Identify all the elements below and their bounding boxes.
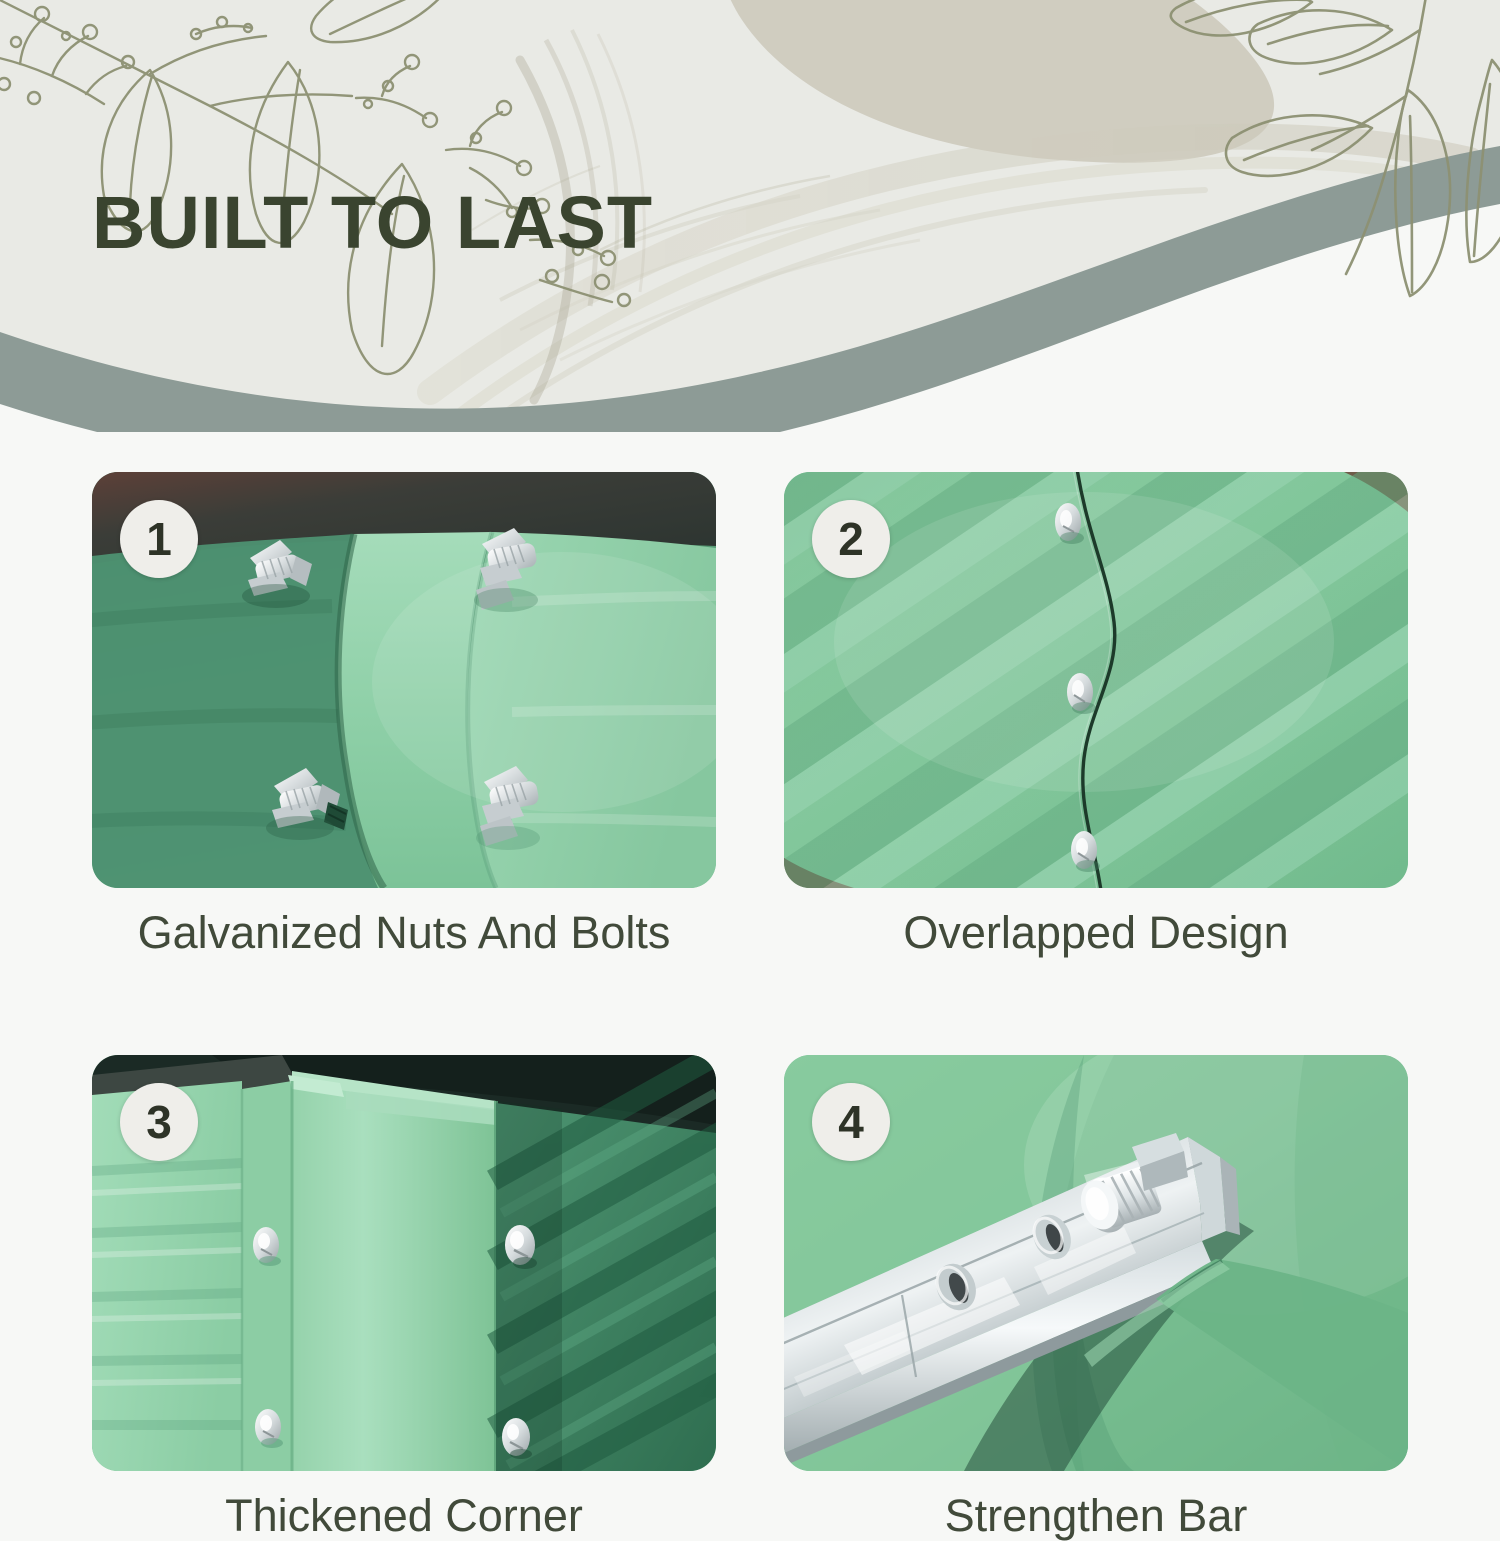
feature-badge-4: 4 — [812, 1083, 890, 1161]
feature-badge-3: 3 — [120, 1083, 198, 1161]
feature-caption-2: Overlapped Design — [784, 908, 1408, 958]
feature-grid: 1 Galvanized Nuts And Bolts — [92, 472, 1408, 1540]
feature-card-2: 2 Overlapped Design — [784, 472, 1408, 958]
header-banner: BUILT TO LAST — [0, 0, 1500, 432]
thickened-corner-photo: 3 — [92, 1055, 716, 1471]
feature-caption-3: Thickened Corner — [92, 1491, 716, 1541]
feature-card-1: 1 Galvanized Nuts And Bolts — [92, 472, 716, 958]
feature-badge-2: 2 — [812, 500, 890, 578]
page-title: BUILT TO LAST — [92, 186, 653, 260]
overlapped-design-photo: 2 — [784, 472, 1408, 888]
feature-badge-1: 1 — [120, 500, 198, 578]
feature-card-3: 3 Thickened Corner — [92, 1055, 716, 1541]
feature-caption-1: Galvanized Nuts And Bolts — [92, 908, 716, 958]
galvanized-nuts-and-bolts-photo: 1 — [92, 472, 716, 888]
feature-caption-4: Strengthen Bar — [784, 1491, 1408, 1541]
feature-card-4: 4 Strengthen Bar — [784, 1055, 1408, 1541]
strengthen-bar-photo: 4 — [784, 1055, 1408, 1471]
